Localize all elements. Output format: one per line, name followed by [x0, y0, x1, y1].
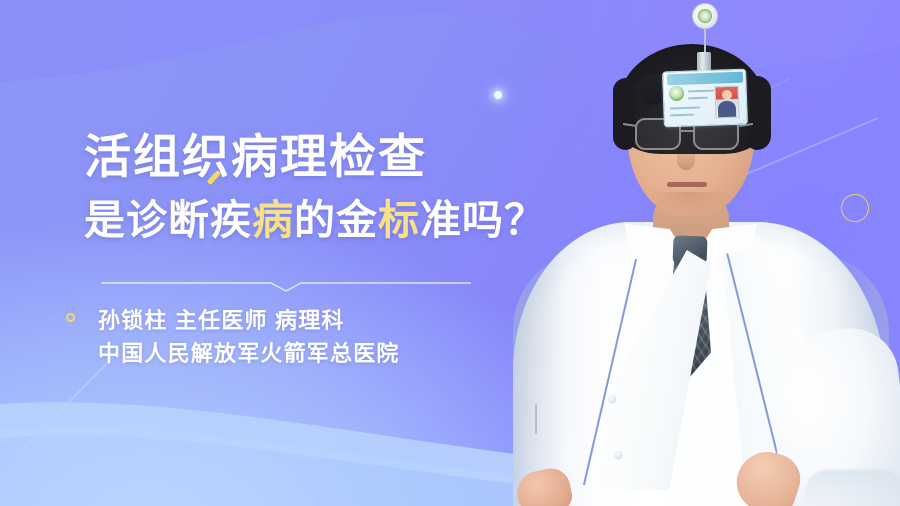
yellow-ring-marker-icon	[66, 313, 75, 322]
eyeglasses-bridge	[681, 130, 695, 132]
coat-button	[609, 396, 616, 403]
speaker-credentials: 孙锁柱 主任医师 病理科 中国人民解放军火箭军总医院	[98, 305, 400, 370]
headline-line-1: 活组织病理检查	[84, 133, 427, 180]
coat-button	[615, 452, 622, 459]
hair-side-left	[613, 78, 635, 150]
headline-part-accent: 标	[378, 197, 420, 243]
divider-line-icon	[101, 280, 471, 294]
coat-pocket	[535, 404, 537, 434]
headline-part: 的金	[294, 197, 378, 243]
headline-part-accent: 病	[252, 197, 294, 243]
sleeve-fold	[805, 470, 900, 506]
badge-reel-cord	[704, 28, 706, 54]
banner-stage: 活组织病理检查 是诊断疾病的金标准吗？ 孙锁柱 主任医师 病理科 中国人民解放军…	[0, 0, 900, 506]
headline-part: 准吗？	[420, 197, 546, 243]
headline-part: 是诊断疾	[84, 197, 252, 243]
glow-dot-icon	[494, 91, 502, 99]
divider	[101, 280, 471, 294]
speaker-line-2: 中国人民解放军火箭军总医院	[98, 338, 400, 371]
id-badge-photo-body	[718, 101, 737, 118]
badge-reel-emblem-icon	[698, 9, 712, 23]
headline-line-2: 是诊断疾病的金标准吗？	[84, 200, 546, 241]
speaker-line-1: 孙锁柱 主任医师 病理科	[98, 305, 400, 338]
mouth	[667, 182, 707, 187]
hair-side-right	[747, 76, 771, 150]
doctor-portrait	[505, 0, 900, 506]
chin-shading	[651, 192, 727, 214]
